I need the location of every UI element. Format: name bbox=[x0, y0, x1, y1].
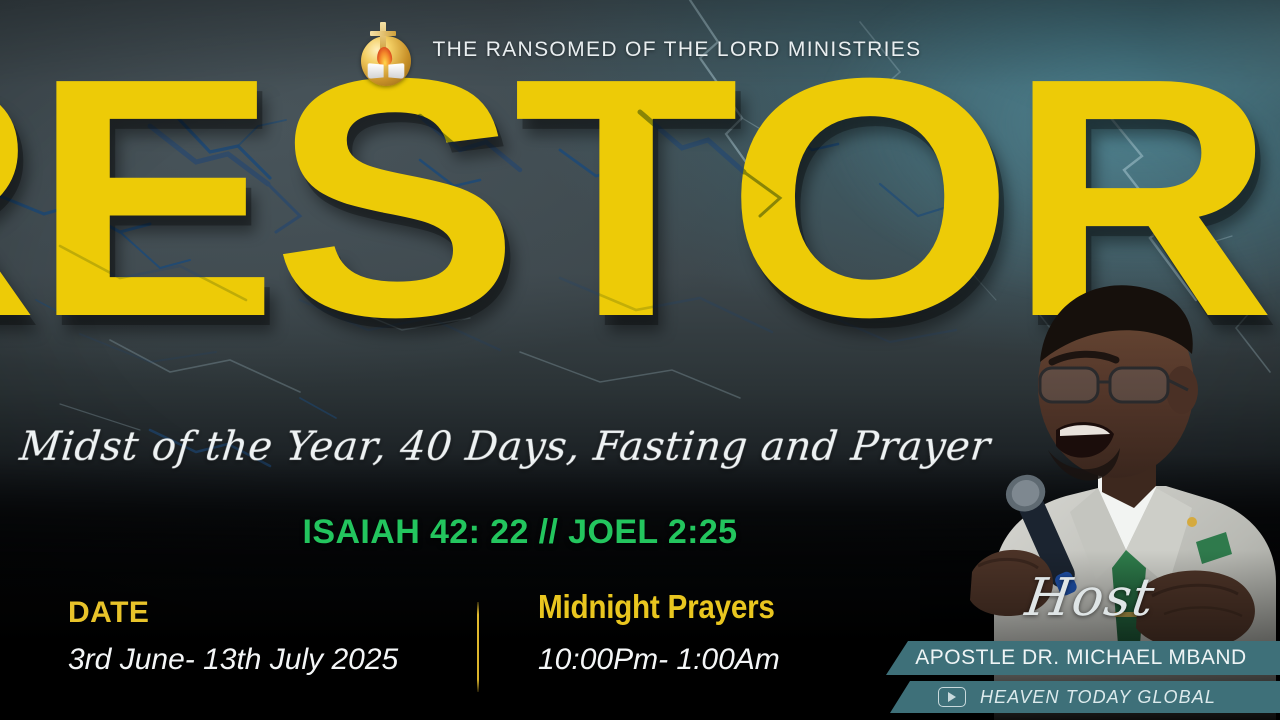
date-block: DATE 3rd June- 13th July 2025 bbox=[68, 598, 398, 675]
speaker-name-banner: APOSTLE DR. MICHAEL MBAND bbox=[886, 641, 1280, 675]
ministry-header: THE RANSOMED OF THE LORD MINISTRIES bbox=[0, 22, 1280, 78]
speaker-name: APOSTLE DR. MICHAEL MBAND bbox=[915, 646, 1246, 670]
ministry-name: THE RANSOMED OF THE LORD MINISTRIES bbox=[432, 38, 921, 62]
section-divider bbox=[477, 602, 479, 692]
youtube-play-icon[interactable] bbox=[938, 687, 966, 707]
flyer-canvas: RESTORE bbox=[0, 0, 1280, 720]
ministry-logo-icon bbox=[358, 22, 414, 78]
main-title-container: RESTORE bbox=[0, 66, 1280, 396]
date-value: 3rd June- 13th July 2025 bbox=[68, 645, 398, 675]
channel-name: HEAVEN TODAY GLOBAL bbox=[980, 687, 1216, 708]
event-details-row: DATE 3rd June- 13th July 2025 Midnight P… bbox=[0, 590, 870, 700]
channel-banner[interactable]: HEAVEN TODAY GLOBAL bbox=[890, 681, 1280, 713]
subtitle-script: Midst of the Year, 40 Days, Fasting and … bbox=[0, 424, 1280, 470]
time-label: Midnight Prayers bbox=[538, 590, 775, 623]
scripture-reference: ISAIAH 42: 22 // JOEL 2:25 bbox=[0, 513, 1280, 552]
host-script-label: Host bbox=[1022, 568, 1159, 628]
open-book-icon bbox=[368, 64, 404, 79]
page-title: RESTORE bbox=[0, 66, 1280, 368]
time-value: 10:00Pm- 1:00Am bbox=[538, 645, 801, 675]
time-block: Midnight Prayers 10:00Pm- 1:00Am bbox=[538, 590, 801, 675]
date-label: DATE bbox=[68, 598, 398, 628]
